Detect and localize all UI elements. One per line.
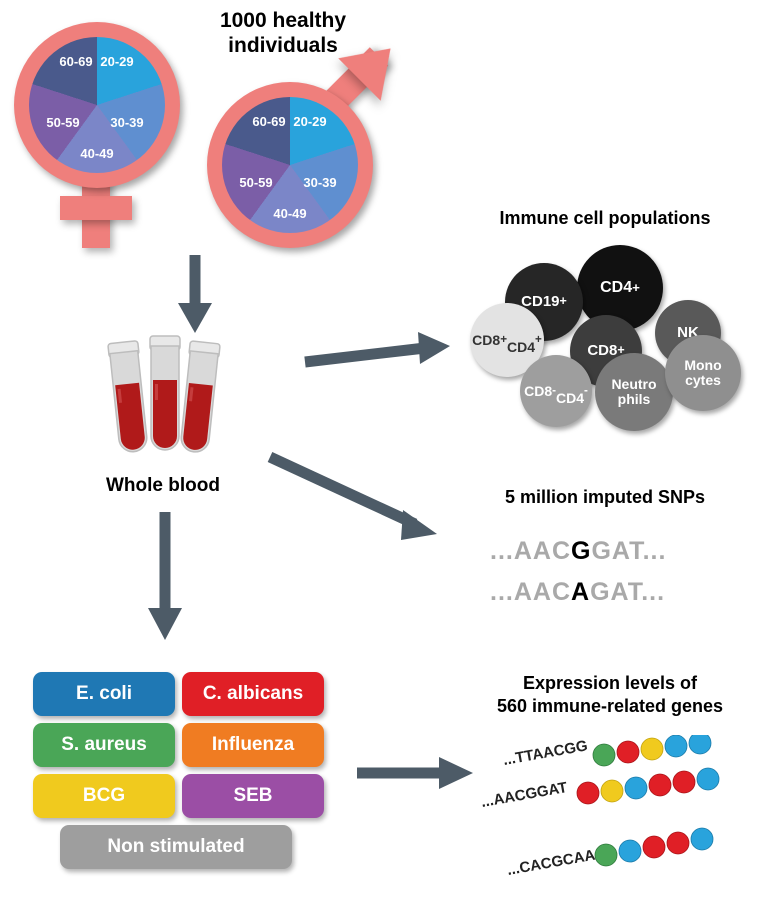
arrow-blood-to-immune bbox=[300, 320, 465, 390]
male-age-label-60-69: 60-69 bbox=[244, 114, 294, 129]
male-symbol: 20-29 30-39 40-49 50-59 60-69 bbox=[205, 40, 420, 255]
male-age-label-40-49: 40-49 bbox=[265, 206, 315, 221]
snp-title: 5 million imputed SNPs bbox=[455, 487, 755, 508]
stimulus-e-coli: E. coli bbox=[33, 672, 175, 716]
female-age-label-60-69: 60-69 bbox=[51, 54, 101, 69]
arrow-stimuli-to-expression bbox=[355, 748, 485, 798]
svg-text:...CACGCAA: ...CACGCAA bbox=[506, 847, 597, 879]
cell-cd8-minus-cd4-minus: CD8-CD4- bbox=[520, 355, 592, 427]
blood-tubes bbox=[100, 330, 240, 470]
female-symbol-ring: 20-29 30-39 40-49 50-59 60-69 bbox=[14, 22, 180, 188]
stimulus-s-aureus: S. aureus bbox=[33, 723, 175, 767]
expression-title-line1: Expression levels of bbox=[460, 672, 760, 695]
whole-blood-label: Whole blood bbox=[78, 475, 248, 497]
male-symbol-ring: 20-29 30-39 40-49 50-59 60-69 bbox=[207, 82, 373, 248]
svg-text:...TTAACGG: ...TTAACGG bbox=[502, 737, 589, 769]
cohort-title-line1: 1000 healthy bbox=[178, 8, 388, 33]
svg-text:...AACGGAT: ...AACGGAT bbox=[480, 779, 569, 811]
female-age-label-50-59: 50-59 bbox=[38, 115, 88, 130]
arrow-cohort-to-blood bbox=[150, 255, 240, 340]
expression-title: Expression levels of 560 immune-related … bbox=[460, 672, 760, 718]
expression-title-line2: 560 immune-related genes bbox=[460, 695, 760, 718]
stimulus-bcg: BCG bbox=[33, 774, 175, 818]
stimulus-influenza: Influenza bbox=[182, 723, 324, 767]
snp-sequence-2: ...AACAGAT... bbox=[490, 578, 665, 607]
stimulus-c-albicans: C. albicans bbox=[182, 672, 324, 716]
arrow-blood-to-stimuli bbox=[120, 512, 210, 647]
snp-sequence-1: ...AACGGAT... bbox=[490, 537, 666, 566]
cell-monocytes: Monocytes bbox=[665, 335, 741, 411]
female-age-label-30-39: 30-39 bbox=[102, 115, 152, 130]
stimulus-seb: SEB bbox=[182, 774, 324, 818]
female-symbol-stem-horizontal bbox=[60, 196, 132, 220]
expression-beads-graphic: ...TTAACGG ...AACGGAT ...CACGCAA bbox=[478, 735, 768, 910]
stimulus-non-stimulated: Non stimulated bbox=[60, 825, 292, 869]
immune-cell-populations-title: Immune cell populations bbox=[455, 208, 755, 229]
arrow-blood-to-snp bbox=[265, 452, 460, 562]
male-age-label-30-39: 30-39 bbox=[295, 175, 345, 190]
female-symbol: 20-29 30-39 40-49 50-59 60-69 bbox=[8, 18, 198, 243]
cell-neutrophils: Neutrophils bbox=[595, 353, 673, 431]
female-age-label-40-49: 40-49 bbox=[72, 146, 122, 161]
male-age-label-50-59: 50-59 bbox=[231, 175, 281, 190]
